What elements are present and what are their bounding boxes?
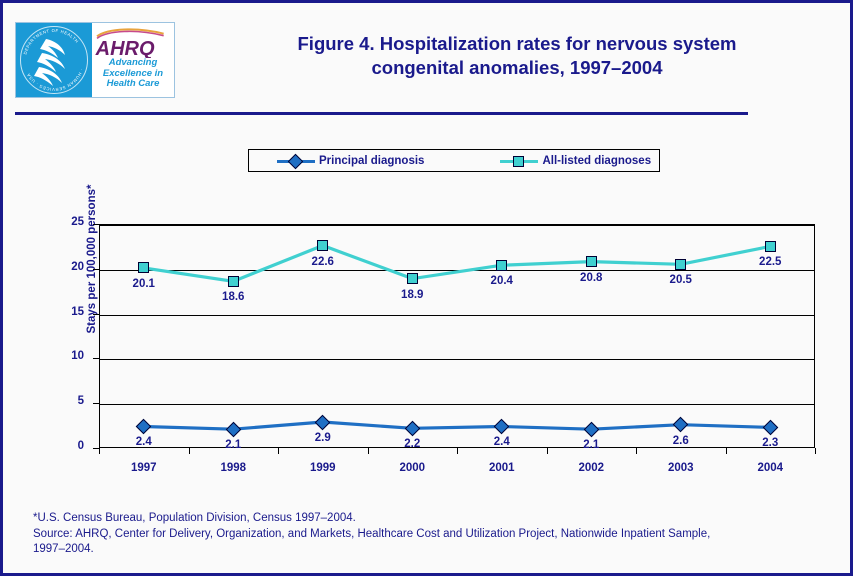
- data-point-marker-square: [317, 240, 328, 251]
- data-label: 2.2: [389, 438, 435, 450]
- y-tick-mark: [93, 448, 99, 449]
- gridline: [100, 225, 814, 226]
- data-label: 22.6: [300, 256, 346, 268]
- series-line: [144, 422, 771, 429]
- hhs-seal-graphic: DEPARTMENT OF HEALTH · HUMAN SERVICES · …: [16, 23, 92, 97]
- x-tick-mark: [726, 448, 727, 454]
- data-point-marker-diamond: [136, 419, 152, 435]
- legend-key-diamond-icon: [277, 154, 315, 168]
- x-tick-label: 2002: [561, 462, 621, 474]
- svg-text:AHRQ: AHRQ: [95, 38, 155, 58]
- data-point-marker-square: [675, 259, 686, 270]
- y-tick-label: 5: [54, 395, 84, 407]
- series-line: [144, 246, 771, 282]
- legend-label-principal-diagnosis: Principal diagnosis: [319, 155, 424, 167]
- y-axis-title: Stays per 100,000 persons*: [86, 144, 98, 374]
- data-label: 2.9: [300, 432, 346, 444]
- header-divider: [15, 112, 748, 115]
- x-tick-label: 2003: [651, 462, 711, 474]
- footnote-source-line2: 1997–2004.: [33, 542, 833, 558]
- x-tick-label: 2000: [382, 462, 442, 474]
- footnote-census: *U.S. Census Bureau, Population Division…: [33, 511, 833, 527]
- x-tick-mark: [815, 448, 816, 454]
- y-tick-mark: [93, 403, 99, 404]
- data-label: 2.3: [747, 437, 793, 449]
- hhs-seal-icon: DEPARTMENT OF HEALTH · HUMAN SERVICES · …: [16, 23, 92, 97]
- data-point-marker-square: [138, 262, 149, 273]
- y-tick-label: 15: [54, 306, 84, 318]
- data-point-marker-square: [228, 276, 239, 287]
- data-label: 2.1: [568, 439, 614, 451]
- y-tick-mark: [93, 224, 99, 225]
- legend-item-all-listed-diagnoses: All-listed diagnoses: [500, 150, 651, 171]
- y-tick-mark: [93, 314, 99, 315]
- data-label: 20.4: [479, 275, 525, 287]
- x-tick-mark: [189, 448, 190, 454]
- legend-marker-diamond-icon: [288, 153, 304, 169]
- data-label: 20.8: [568, 272, 614, 284]
- data-label: 20.5: [658, 274, 704, 286]
- plot-area: [99, 224, 815, 448]
- data-label: 2.4: [479, 436, 525, 448]
- ahrq-logo: AHRQ Advancing Excellence in Health Care: [92, 23, 174, 97]
- data-point-marker-square: [496, 260, 507, 271]
- gridline: [100, 315, 814, 316]
- ahrq-tagline-line1: Advancing: [109, 58, 158, 69]
- data-point-marker-diamond: [583, 421, 599, 437]
- x-tick-label: 1999: [293, 462, 353, 474]
- data-point-marker-diamond: [315, 414, 331, 430]
- data-label: 20.1: [121, 278, 167, 290]
- figure-header: DEPARTMENT OF HEALTH · HUMAN SERVICES · …: [6, 6, 853, 106]
- legend-marker-square-icon: [513, 156, 524, 167]
- y-tick-label: 0: [54, 440, 84, 452]
- ahrq-tagline-line3: Health Care: [107, 79, 160, 90]
- footnotes: *U.S. Census Bureau, Population Division…: [33, 511, 833, 558]
- y-tick-label: 25: [54, 216, 84, 228]
- data-point-marker-square: [586, 256, 597, 267]
- page-title: Figure 4. Hospitalization rates for nerv…: [192, 32, 842, 80]
- legend-key-square-icon: [500, 154, 538, 168]
- data-label: 2.1: [210, 439, 256, 451]
- y-tick-label: 10: [54, 350, 84, 362]
- page-title-line1: Figure 4. Hospitalization rates for nerv…: [192, 32, 842, 56]
- x-tick-label: 1998: [203, 462, 263, 474]
- x-tick-label: 2004: [740, 462, 800, 474]
- legend-item-principal-diagnosis: Principal diagnosis: [277, 150, 424, 171]
- data-label: 18.6: [210, 291, 256, 303]
- chart-legend: Principal diagnosis All-listed diagnoses: [248, 149, 660, 172]
- data-point-marker-diamond: [673, 417, 689, 433]
- x-tick-mark: [636, 448, 637, 454]
- legend-label-all-listed-diagnoses: All-listed diagnoses: [542, 155, 651, 167]
- data-point-marker-square: [407, 273, 418, 284]
- gridline: [100, 270, 814, 271]
- ahrq-wordmark-icon: AHRQ: [93, 28, 173, 58]
- page-title-line2: congenital anomalies, 1997–2004: [192, 56, 842, 80]
- data-label: 22.5: [747, 256, 793, 268]
- x-tick-mark: [278, 448, 279, 454]
- gridline: [100, 359, 814, 360]
- figure-page: DEPARTMENT OF HEALTH · HUMAN SERVICES · …: [0, 0, 853, 576]
- data-point-marker-diamond: [404, 421, 420, 437]
- x-tick-mark: [457, 448, 458, 454]
- x-tick-label: 2001: [472, 462, 532, 474]
- x-tick-mark: [99, 448, 100, 454]
- x-tick-mark: [368, 448, 369, 454]
- agency-logo: DEPARTMENT OF HEALTH · HUMAN SERVICES · …: [15, 22, 175, 98]
- x-tick-mark: [547, 448, 548, 454]
- data-point-marker-diamond: [494, 419, 510, 435]
- svg-text:· HUMAN SERVICES · USA: · HUMAN SERVICES · USA: [26, 68, 85, 92]
- data-label: 2.6: [658, 435, 704, 447]
- data-point-marker-square: [765, 241, 776, 252]
- data-point-marker-diamond: [225, 421, 241, 437]
- y-tick-mark: [93, 269, 99, 270]
- data-label: 18.9: [389, 289, 435, 301]
- data-label: 2.4: [121, 436, 167, 448]
- x-tick-label: 1997: [114, 462, 174, 474]
- footnote-source-line1: Source: AHRQ, Center for Delivery, Organ…: [33, 527, 833, 543]
- data-point-marker-diamond: [762, 420, 778, 436]
- gridline: [100, 404, 814, 405]
- y-tick-label: 20: [54, 261, 84, 273]
- y-tick-mark: [93, 358, 99, 359]
